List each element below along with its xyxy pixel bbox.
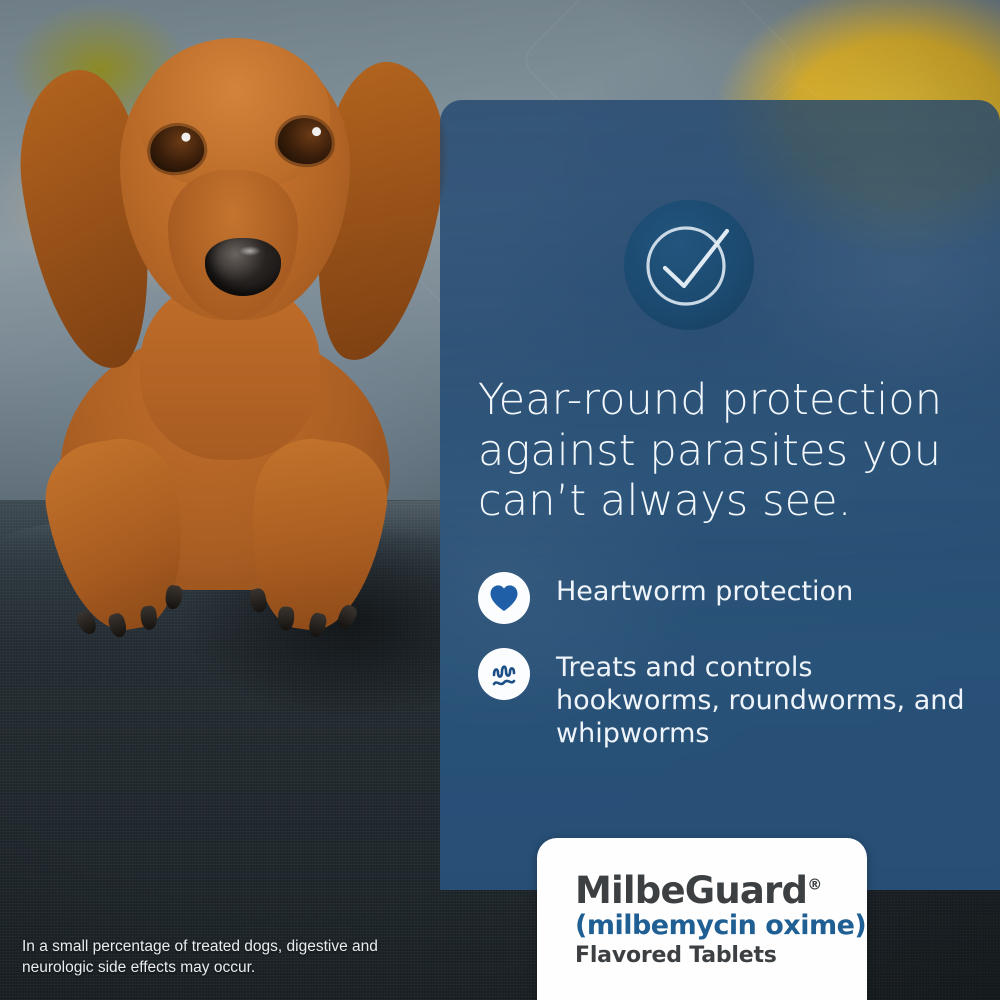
dog-claw — [164, 584, 183, 610]
dog-claw — [107, 612, 129, 639]
message-panel: Year-round protection against parasites … — [440, 100, 1000, 890]
headline: Year-round protection against parasites … — [478, 375, 976, 527]
ad-creative: Year-round protection against parasites … — [0, 0, 1000, 1000]
brand-name: MilbeGuard® — [575, 872, 822, 909]
benefit-item-heartworm: Heartworm protection — [478, 570, 978, 624]
product-logo-card: MilbeGuard® (milbemycin oxime) Flavored … — [537, 838, 867, 1000]
dog-claw — [74, 608, 99, 637]
check-icon-glyph — [624, 200, 754, 330]
safety-disclaimer: In a small percentage of treated dogs, d… — [22, 936, 422, 979]
brand-name-text: MilbeGuard — [575, 869, 807, 912]
benefit-item-worms: Treats and controls hookworms, roundworm… — [478, 646, 978, 751]
dog-claw — [140, 605, 158, 630]
dog-claw — [334, 603, 359, 632]
check-circle-icon — [624, 200, 754, 330]
dog-claw — [248, 587, 269, 614]
dog-claw — [278, 606, 295, 631]
dosage-form: Flavored Tablets — [575, 943, 867, 969]
worm-icon — [478, 648, 530, 700]
generic-name: (milbemycin oxime) — [575, 911, 867, 941]
registered-trademark-symbol: ® — [807, 876, 822, 894]
heart-icon — [478, 572, 530, 624]
benefit-label-heartworm: Heartworm protection — [556, 570, 853, 608]
dachshund-dog — [0, 0, 470, 640]
benefit-list: Heartworm protection Treats and controls… — [478, 570, 978, 773]
dog-claw — [307, 612, 328, 639]
benefit-label-worms: Treats and controls hookworms, roundworm… — [556, 646, 978, 751]
eye-glint — [181, 132, 191, 142]
eye-glint — [312, 127, 322, 137]
